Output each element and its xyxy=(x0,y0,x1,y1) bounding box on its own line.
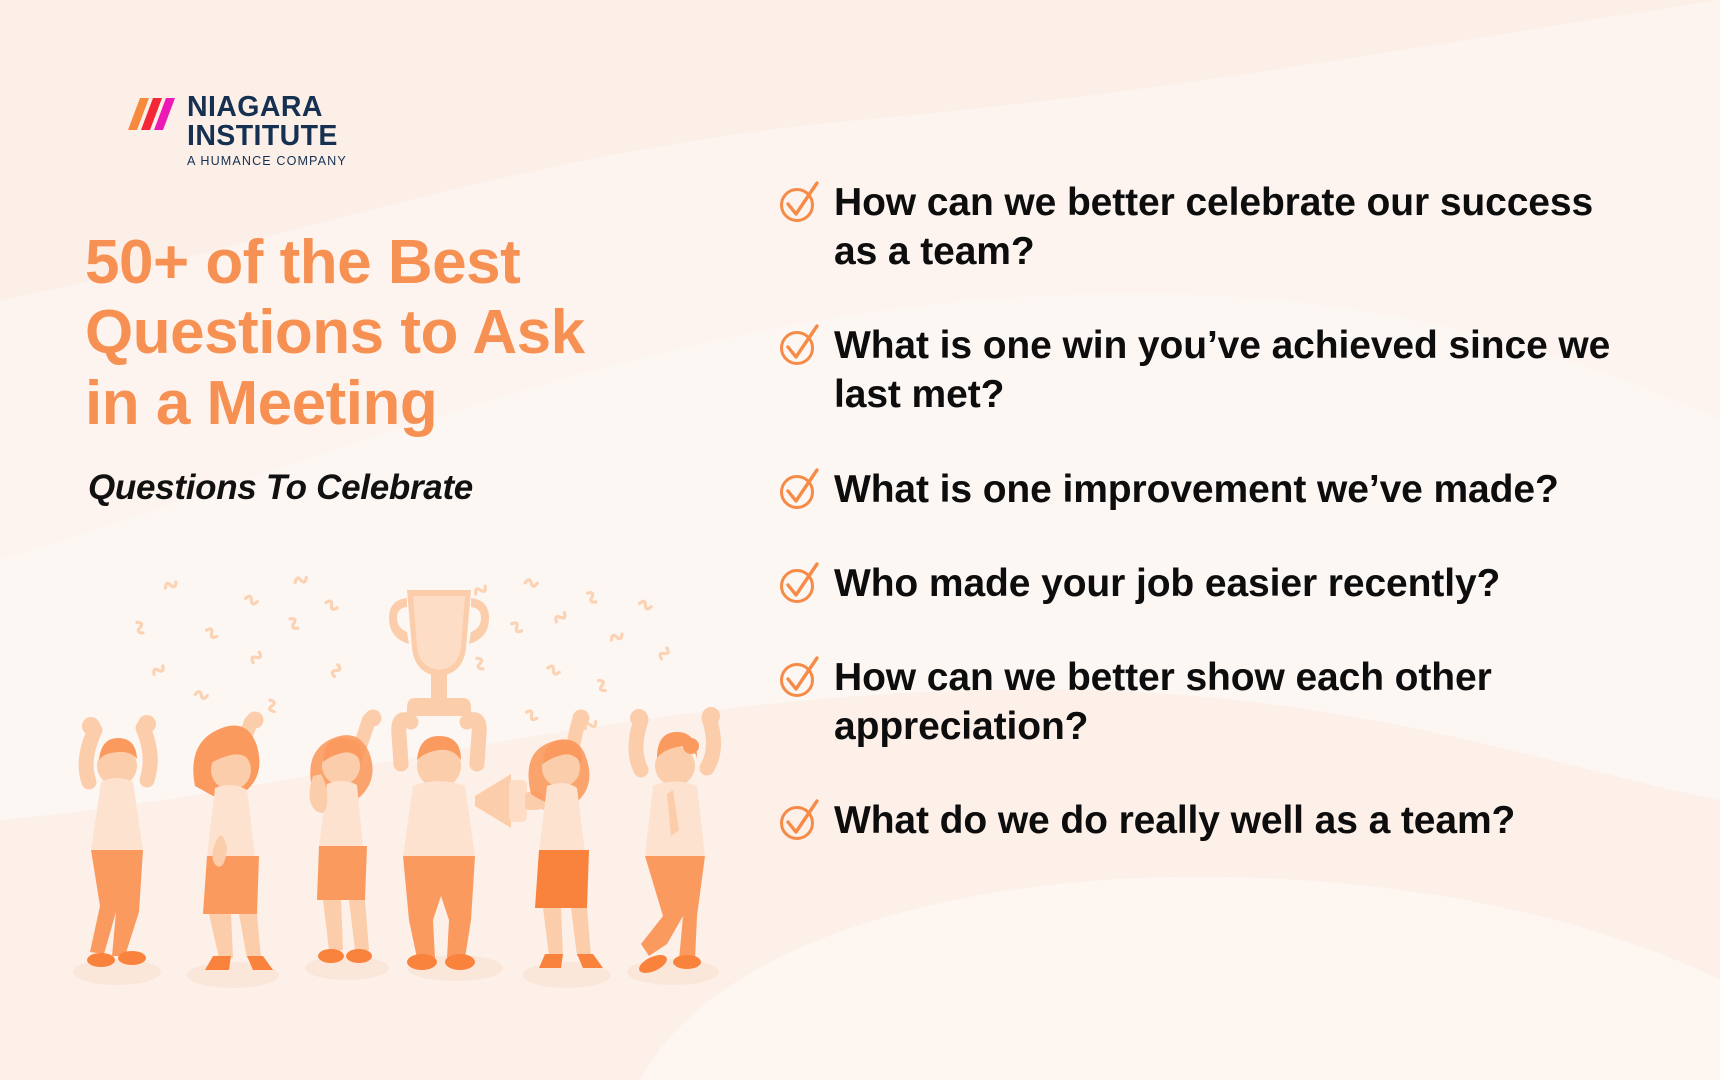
person-cheering-3 xyxy=(309,710,381,964)
page-title-line-1: 50+ of the Best xyxy=(85,228,725,299)
circle-check-icon xyxy=(778,323,820,367)
person-cheering-1 xyxy=(82,715,156,967)
list-item[interactable]: What is one win you’ve achieved since we… xyxy=(778,321,1678,419)
list-item-label: What is one improvement we’ve made? xyxy=(834,465,1559,514)
circle-check-icon xyxy=(778,655,820,699)
list-item-label: Who made your job easier recently? xyxy=(834,559,1500,608)
list-item-label: How can we better show each other apprec… xyxy=(834,653,1634,751)
ground-shadows xyxy=(73,955,719,988)
list-item[interactable]: What do we do really well as a team? xyxy=(778,796,1678,845)
niagara-institute-logo-mark xyxy=(118,98,176,130)
person-with-megaphone xyxy=(475,710,603,969)
circle-check-icon xyxy=(778,561,820,605)
list-item[interactable]: How can we better celebrate our success … xyxy=(778,178,1678,276)
list-item-label: What is one win you’ve achieved since we… xyxy=(834,321,1634,419)
brand-logo: NIAGARA INSTITUTE A HUMANCE COMPANY xyxy=(118,93,347,168)
person-cheering-6 xyxy=(630,707,720,977)
list-item-label: What do we do really well as a team? xyxy=(834,796,1515,845)
circle-check-icon xyxy=(778,798,820,842)
page-title-line-2: Questions to Ask xyxy=(85,298,725,369)
circle-check-icon xyxy=(778,467,820,511)
infographic-poster: NIAGARA INSTITUTE A HUMANCE COMPANY 50+ … xyxy=(0,0,1720,1080)
questions-checklist: How can we better celebrate our success … xyxy=(778,178,1678,845)
person-with-trophy xyxy=(389,590,489,970)
page-title-line-3: in a Meeting xyxy=(85,369,725,440)
page-subtitle: Questions To Celebrate xyxy=(88,468,473,508)
team-celebration-illustration xyxy=(55,570,765,990)
list-item[interactable]: How can we better show each other apprec… xyxy=(778,653,1678,751)
logo-text-institute: INSTITUTE xyxy=(187,122,347,151)
list-item[interactable]: Who made your job easier recently? xyxy=(778,559,1678,608)
logo-tagline: A HUMANCE COMPANY xyxy=(187,155,347,168)
list-item[interactable]: What is one improvement we’ve made? xyxy=(778,465,1678,514)
list-item-label: How can we better celebrate our success … xyxy=(834,178,1634,276)
trophy-icon xyxy=(389,590,489,716)
person-cheering-2 xyxy=(193,712,273,971)
logo-text-niagara: NIAGARA xyxy=(187,93,347,122)
circle-check-icon xyxy=(778,180,820,224)
page-title: 50+ of the Best Questions to Ask in a Me… xyxy=(85,228,725,440)
